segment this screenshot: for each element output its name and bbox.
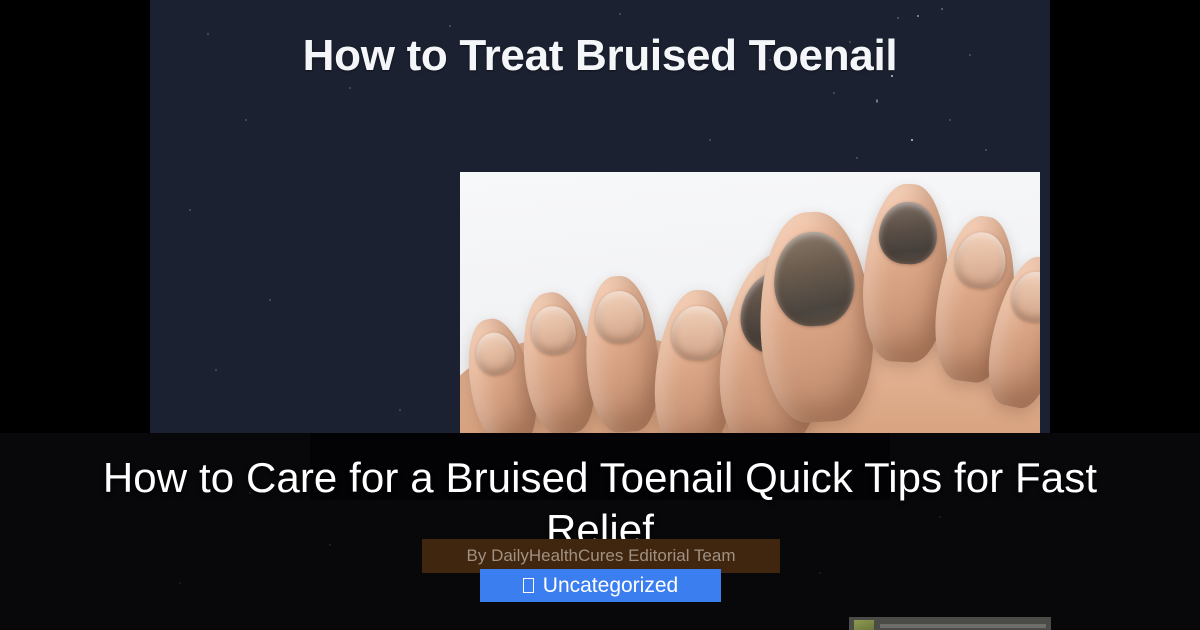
card-text-line bbox=[880, 624, 1046, 628]
category-badge[interactable]: Uncategorized bbox=[480, 569, 721, 602]
toenail-left-4 bbox=[528, 303, 578, 357]
toenail-left-3 bbox=[594, 289, 646, 344]
toenail-left-2 bbox=[670, 304, 726, 361]
screenshot-stage: How to Treat Bruised Toenail bbox=[0, 0, 1200, 630]
card-thumbnail bbox=[854, 620, 874, 630]
missing-glyph-box-icon bbox=[523, 578, 534, 593]
toenail-photo bbox=[460, 172, 1040, 433]
toenail-right-2-bruised bbox=[878, 201, 939, 266]
category-badge-label: Uncategorized bbox=[543, 574, 678, 598]
hero-heading: How to Treat Bruised Toenail bbox=[150, 24, 1050, 88]
toenail-right-big-bruised bbox=[772, 230, 857, 328]
hero-panel: How to Treat Bruised Toenail bbox=[150, 0, 1050, 433]
bottom-right-card-fragment[interactable] bbox=[849, 617, 1051, 630]
toenail-right-3 bbox=[953, 229, 1009, 291]
article-byline: By DailyHealthCures Editorial Team bbox=[422, 539, 780, 573]
toenail-left-5 bbox=[472, 329, 518, 378]
card-text-placeholder bbox=[880, 620, 1046, 630]
